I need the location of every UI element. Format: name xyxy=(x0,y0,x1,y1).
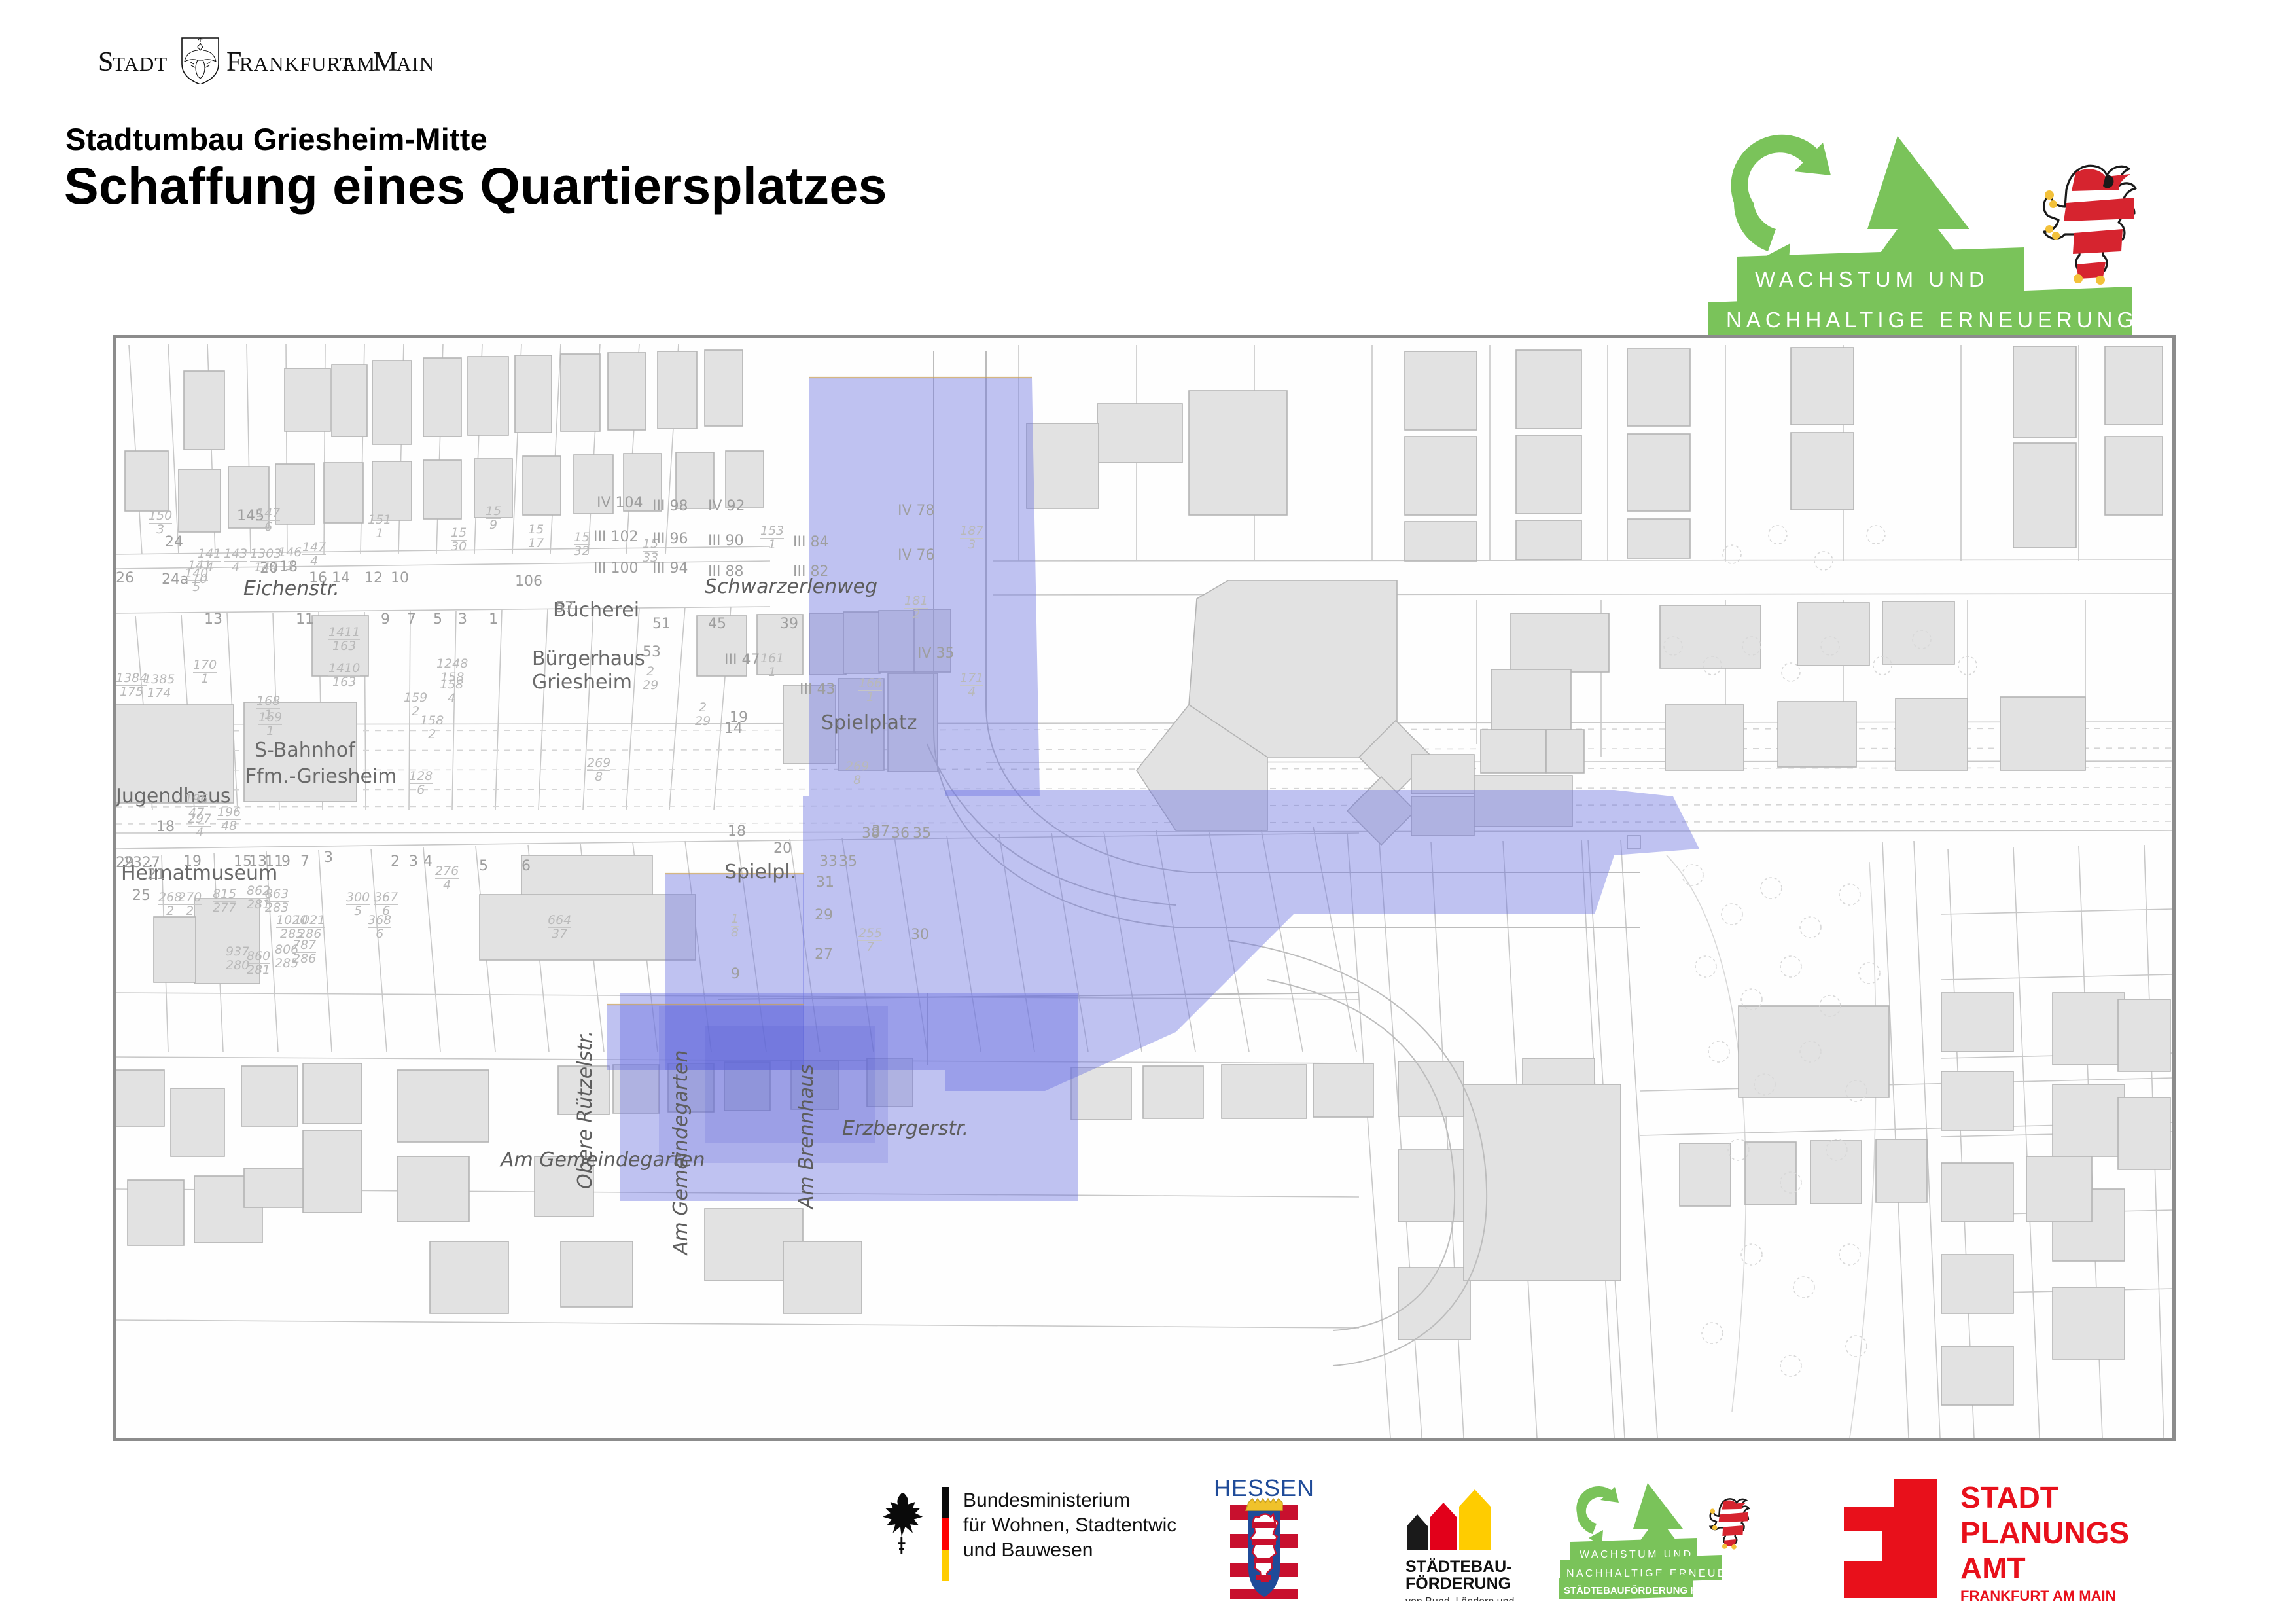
federal-eagle-icon xyxy=(883,1493,923,1554)
city-logo: S TADT F RANKFURT AM M AIN xyxy=(98,31,517,84)
frankfurt-eagle-crest-icon xyxy=(182,38,219,84)
hessen-coat-of-arms-icon xyxy=(1230,1499,1298,1599)
stadtplanungsamt-mark-icon xyxy=(1844,1479,1937,1598)
programme-line2: NACHHALTIGE ERNEUERUNG xyxy=(1726,308,2138,332)
city-logo-svg: S TADT F RANKFURT AM M AIN xyxy=(98,31,517,84)
sbf-line2: FÖRDERUNG xyxy=(1405,1574,1511,1593)
spa-line1: STADT xyxy=(1960,1480,2058,1514)
project-subtitle: Stadtumbau Griesheim-Mitte xyxy=(65,121,487,157)
logo-staedtebaufoerderung: STÄDTEBAU- FÖRDERUNG von Bund, Ländern u… xyxy=(1394,1480,1557,1601)
footer-logo-strip: Bundesministerium für Wohnen, Stadtentwi… xyxy=(0,1472,2296,1623)
map-canvas xyxy=(116,338,2172,1438)
page-title: Schaffung eines Quartiersplatzes xyxy=(64,156,887,216)
svg-text:M: M xyxy=(373,47,397,77)
hessen-wordmark: HESSEN xyxy=(1214,1476,1315,1501)
cadastral-map[interactable]: Eichenstr. Schwarzerlenweg Erzbergerstr.… xyxy=(113,335,2176,1441)
sbf-line1: STÄDTEBAU- xyxy=(1405,1558,1512,1576)
svg-text:S: S xyxy=(98,47,114,77)
bmwsb-line3: und Bauwesen xyxy=(963,1539,1093,1561)
svg-text:RANKFURT: RANKFURT xyxy=(239,52,353,75)
logo-hessen: HESSEN xyxy=(1205,1476,1323,1601)
svg-text:AIN: AIN xyxy=(397,52,434,75)
sbf-line3: von Bund, Ländern und xyxy=(1405,1596,1514,1601)
flag-gold xyxy=(942,1550,949,1581)
logo-hessen-programme: WACHSTUM UND NACHHALTIGE ERNEUERUNG STÄD… xyxy=(1556,1478,1772,1599)
bmwsb-line2: für Wohnen, Stadtentwicklung xyxy=(963,1514,1178,1536)
svg-text:TADT: TADT xyxy=(113,52,168,75)
spa-line2: PLANUNGS xyxy=(1960,1516,2129,1550)
svg-text:AM: AM xyxy=(342,52,376,75)
hessen-lion-icon xyxy=(2044,166,2136,285)
fp-line3: STÄDTEBAUFÖRDERUNG HESSEN xyxy=(1564,1585,1731,1596)
hessen-lion-icon xyxy=(1710,1499,1748,1549)
spa-line3: AMT xyxy=(1960,1551,2026,1585)
logo-stadtplanungsamt: STADT PLANUNGS AMT FRANKFURT AM MAIN xyxy=(1826,1479,2153,1603)
bmwsb-line1: Bundesministerium xyxy=(963,1489,1130,1511)
three-houses-icon xyxy=(1407,1489,1491,1550)
spa-line4: FRANKFURT AM MAIN xyxy=(1960,1588,2115,1603)
logo-bmwsb: Bundesministerium für Wohnen, Stadtentwi… xyxy=(870,1480,1178,1592)
flag-black xyxy=(942,1487,949,1518)
quartiersplatz-inner-shade xyxy=(659,1006,888,1163)
flag-red xyxy=(942,1518,949,1550)
programme-line1: WACHSTUM UND xyxy=(1755,267,1989,291)
